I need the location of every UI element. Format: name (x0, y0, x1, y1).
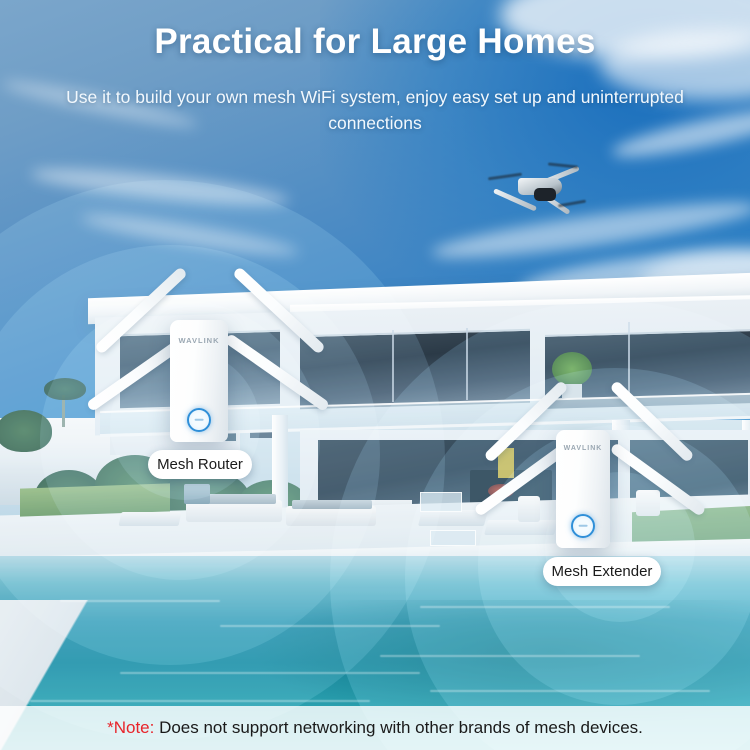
drone (480, 158, 590, 220)
note-line: *Note: Does not support networking with … (107, 718, 643, 738)
drone-propeller (548, 162, 578, 168)
note-body: Does not support networking with other b… (154, 718, 643, 737)
drone-propeller (558, 200, 586, 208)
label-mesh-extender[interactable]: Mesh Extender (543, 557, 661, 586)
router-antenna (232, 266, 326, 355)
router-led-indicator[interactable] (187, 408, 211, 432)
mesh-extender-device: WAVLINK (472, 392, 702, 572)
drone-propeller (488, 173, 522, 181)
page-title: Practical for Large Homes (0, 22, 750, 62)
extender-brand-logo: WAVLINK (556, 445, 610, 452)
label-mesh-router[interactable]: Mesh Router (148, 450, 252, 479)
note-bar: *Note: Does not support networking with … (0, 706, 750, 750)
mesh-router-device: WAVLINK (90, 255, 320, 455)
router-body: WAVLINK (170, 320, 228, 442)
extender-body: WAVLINK (556, 430, 610, 548)
extender-led-indicator[interactable] (571, 514, 595, 538)
marketing-banner: WAVLINK WAVLINK Mesh Router Mesh Extende… (0, 0, 750, 750)
page-subtitle: Use it to build your own mesh WiFi syste… (60, 84, 690, 136)
note-marker: *Note: (107, 718, 154, 737)
router-brand-logo: WAVLINK (170, 336, 228, 345)
drone-camera-gimbal (534, 188, 556, 201)
